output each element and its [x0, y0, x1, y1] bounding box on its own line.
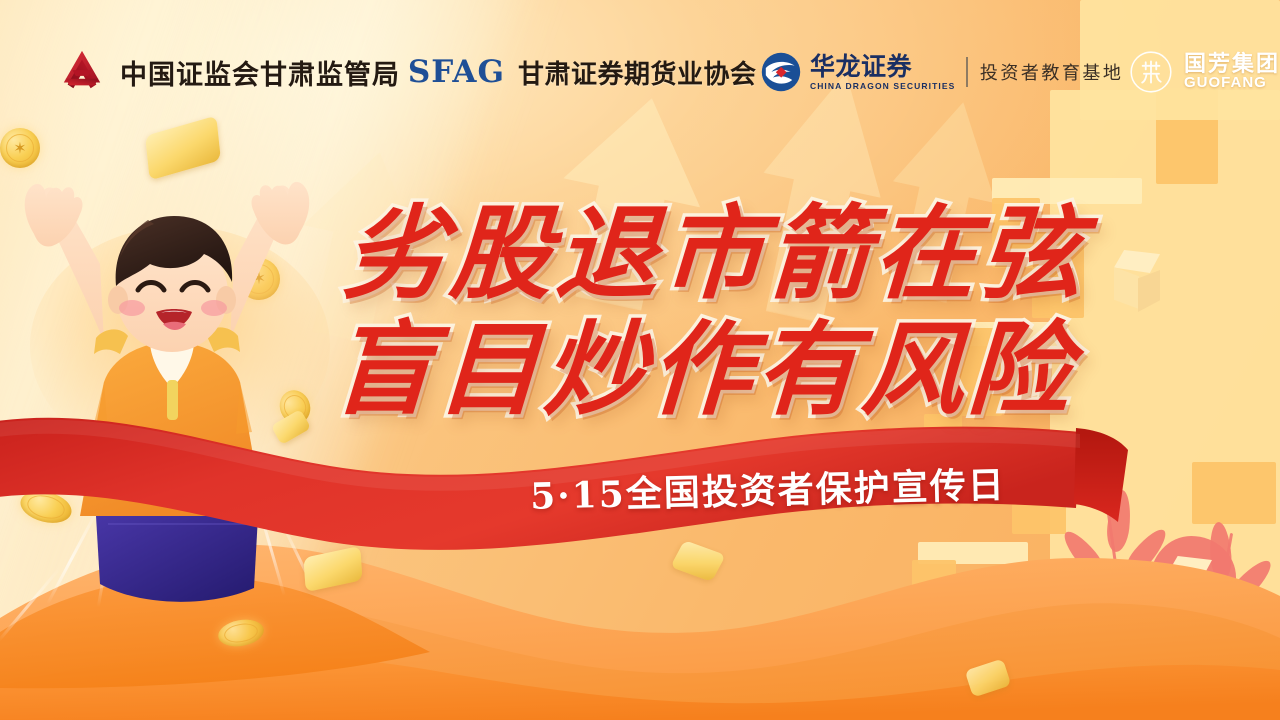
promotional-poster: ✶ ✶ — [0, 0, 1280, 720]
gold-ingot-icon — [965, 659, 1012, 698]
sponsor-logo-bar: 中国证监会甘肃监管局 SFAG 甘肃证券期货业协会 华龙证券 CHINA DRA… — [0, 42, 1280, 102]
coral-plant-sprig — [1196, 528, 1280, 698]
logo-dragon-subtitle: 投资者教育基地 — [980, 59, 1124, 85]
logo-china-dragon-securities: 华龙证券 CHINA DRAGON SECURITIES 投资者教育基地 — [761, 52, 1123, 92]
logo-csrc-gansu: 中国证监会甘肃监管局 — [58, 49, 400, 95]
logo-sfag: SFAG 甘肃证券期货业协会 — [408, 54, 757, 91]
headline-line-2: 盲目炒作有风险 — [329, 312, 1107, 428]
logo-guofang-names: 国芳集团 GUOFANG — [1184, 53, 1280, 91]
logo-sfag-abbrev: SFAG — [408, 54, 505, 90]
logo-divider — [966, 57, 968, 87]
logo-guofang-name-cn: 国芳集团 — [1184, 53, 1280, 76]
logo-guofang-name-en: GUOFANG — [1184, 75, 1280, 91]
logo-dragon-names: 华龙证券 CHINA DRAGON SECURITIES — [810, 54, 955, 91]
logo-guofang-group: 国芳集团 GUOFANG — [1129, 50, 1280, 94]
logo-dragon-name-cn: 华龙证券 — [810, 54, 955, 80]
logo-dragon-name-en: CHINA DRAGON SECURITIES — [810, 81, 955, 91]
headline: 劣股退市箭在弦 盲目炒作有风险 — [344, 196, 1104, 428]
gold-ingot-icon — [145, 116, 221, 181]
guofang-seal-logo-icon — [1129, 50, 1173, 94]
headline-line-1: 劣股退市箭在弦 — [341, 196, 1107, 312]
csrc-triangle-logo-icon — [58, 49, 106, 95]
logo-csrc-gansu-label: 中国证监会甘肃监管局 — [120, 53, 400, 92]
dragon-wave-logo-icon — [761, 52, 801, 92]
logo-sfag-label: 甘肃证券期货业协会 — [518, 54, 757, 91]
gold-coin-icon: ✶ — [0, 128, 40, 168]
coin-motif-icon — [1150, 536, 1236, 622]
